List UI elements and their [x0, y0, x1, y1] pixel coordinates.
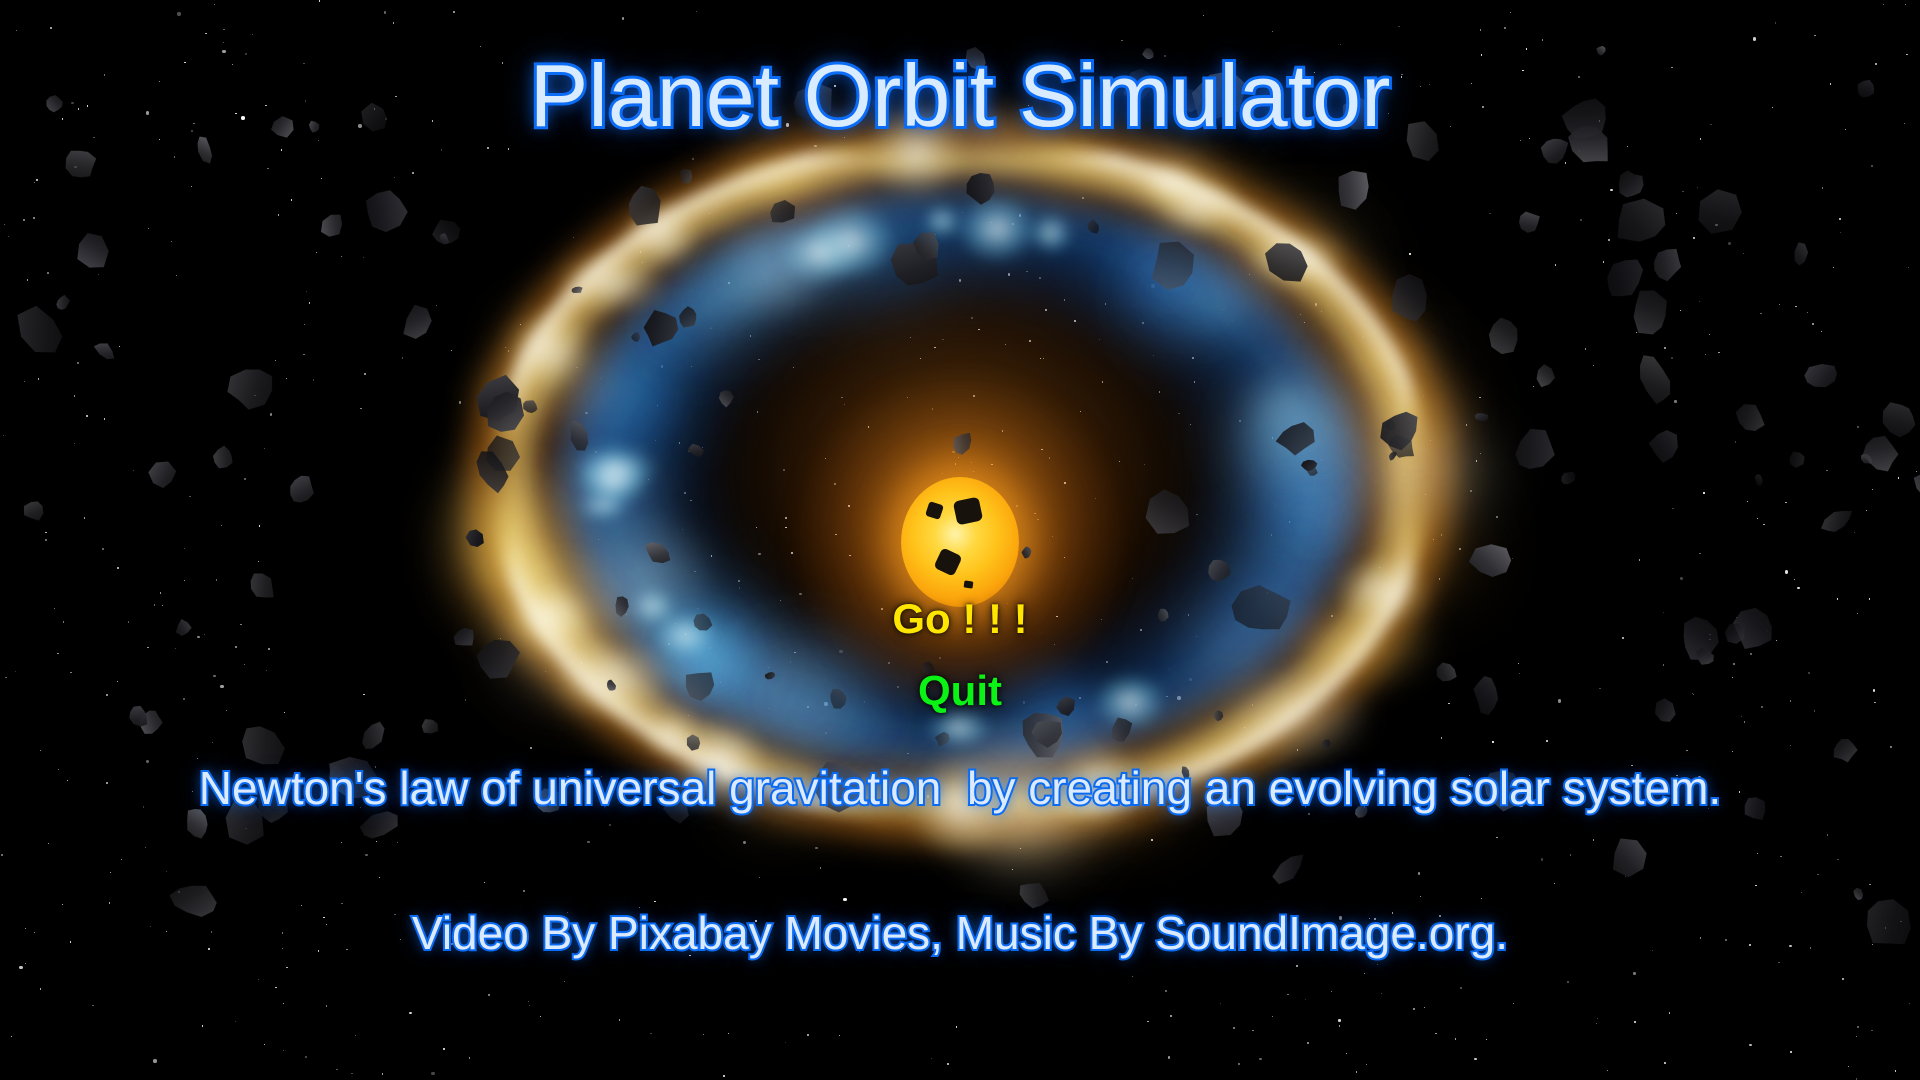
sun-glow [795, 377, 1125, 707]
asteroid [396, 298, 441, 347]
asteroid [283, 470, 319, 509]
asteroid [617, 179, 673, 238]
asteroid [461, 362, 533, 435]
asteroid [1729, 397, 1771, 440]
asteroid [1370, 400, 1430, 462]
asteroid [1608, 194, 1676, 251]
asteroid [1594, 249, 1652, 311]
asteroid [1907, 462, 1920, 507]
asteroid [1783, 445, 1811, 472]
credits-line-2: Video By Pixabay Movies, Music By SoundI… [0, 909, 1920, 957]
asteroid [1691, 644, 1720, 670]
asteroid [519, 394, 543, 418]
asteroid [1226, 582, 1296, 640]
asteroid [569, 285, 584, 295]
asteroid [1675, 612, 1725, 666]
game-stage: Planet Orbit Simulator Go ! ! ! Quit New… [0, 0, 1920, 1080]
asteroid [1557, 467, 1580, 490]
asteroid [352, 177, 418, 243]
asteroid [173, 617, 195, 639]
asteroid [1645, 424, 1685, 468]
asteroid [477, 383, 531, 443]
asteroid [69, 226, 114, 275]
asteroid [684, 440, 708, 462]
sun-asteroid-silhouette [964, 580, 974, 588]
asteroid [1874, 392, 1920, 445]
asteroid [1616, 169, 1645, 201]
asteroid [466, 442, 519, 503]
asteroid [3, 293, 80, 370]
asteroid [909, 228, 943, 264]
credits-line-1: Newton's law of universal gravitation by… [0, 764, 1920, 812]
central-cavity-glow [680, 245, 1240, 715]
asteroid [1467, 540, 1516, 582]
asteroid [1382, 428, 1421, 466]
asteroid [314, 206, 351, 244]
asteroid [461, 523, 490, 553]
asteroid [51, 291, 74, 314]
asteroid [474, 428, 526, 482]
asteroid [1138, 231, 1207, 302]
asteroid [1852, 426, 1909, 482]
asteroid [217, 355, 284, 419]
asteroid [1723, 620, 1747, 645]
page-title: Planet Orbit Simulator [0, 52, 1920, 140]
asteroid [613, 593, 631, 618]
asteroid [1685, 177, 1756, 246]
asteroid [20, 495, 50, 525]
asteroid [90, 337, 120, 366]
sun-asteroid-silhouette [933, 547, 962, 576]
asteroid [676, 165, 696, 187]
asteroid [1728, 603, 1780, 654]
asteroid [716, 386, 734, 408]
go-button[interactable]: Go ! ! ! [892, 598, 1027, 640]
asteroid [1498, 416, 1568, 486]
asteroid [630, 330, 642, 344]
asteroid [1533, 362, 1557, 389]
asteroid [633, 302, 687, 356]
asteroid [451, 626, 478, 650]
asteroid [1472, 410, 1492, 423]
asteroid [1154, 606, 1171, 625]
asteroid [876, 224, 955, 303]
asteroid [688, 610, 715, 636]
sun-asteroid-silhouette [925, 501, 944, 520]
asteroid [1797, 358, 1845, 394]
asteroid [955, 163, 1006, 214]
asteroid [1273, 417, 1320, 459]
asteroid [429, 214, 462, 250]
asteroid [760, 193, 801, 233]
asteroid [1304, 463, 1320, 479]
asteroid [437, 231, 452, 248]
asteroid [1254, 226, 1321, 294]
menu-row-go: Go ! ! ! [0, 598, 1920, 640]
asteroid [1628, 347, 1682, 413]
asteroid [1815, 502, 1858, 541]
asteroid [1389, 273, 1430, 324]
asteroid [207, 441, 241, 475]
sun [901, 477, 1019, 607]
asteroid [1753, 473, 1765, 489]
asteroid [1300, 459, 1319, 472]
asteroid [1325, 159, 1384, 218]
asteroid [56, 139, 105, 188]
asteroid [1643, 239, 1692, 289]
asteroid [1858, 450, 1876, 468]
asteroid [1482, 310, 1526, 358]
inner-blue-filament [610, 230, 1310, 730]
asteroid [1387, 449, 1400, 463]
asteroid [143, 456, 181, 495]
asteroid [1020, 545, 1034, 560]
asteroid [1384, 419, 1396, 433]
sun-asteroid-silhouette [953, 497, 983, 526]
credits-block: Newton's law of universal gravitation by… [0, 668, 1920, 1054]
asteroid [945, 425, 980, 462]
asteroid [1085, 218, 1102, 237]
asteroid [1790, 239, 1810, 270]
asteroid [1511, 204, 1546, 239]
asteroid [562, 415, 597, 458]
asteroid [1620, 281, 1680, 346]
asteroid [1203, 554, 1235, 585]
asteroid [639, 537, 676, 570]
asteroid [239, 563, 284, 609]
asteroid [676, 304, 702, 332]
asteroid [1140, 481, 1200, 544]
